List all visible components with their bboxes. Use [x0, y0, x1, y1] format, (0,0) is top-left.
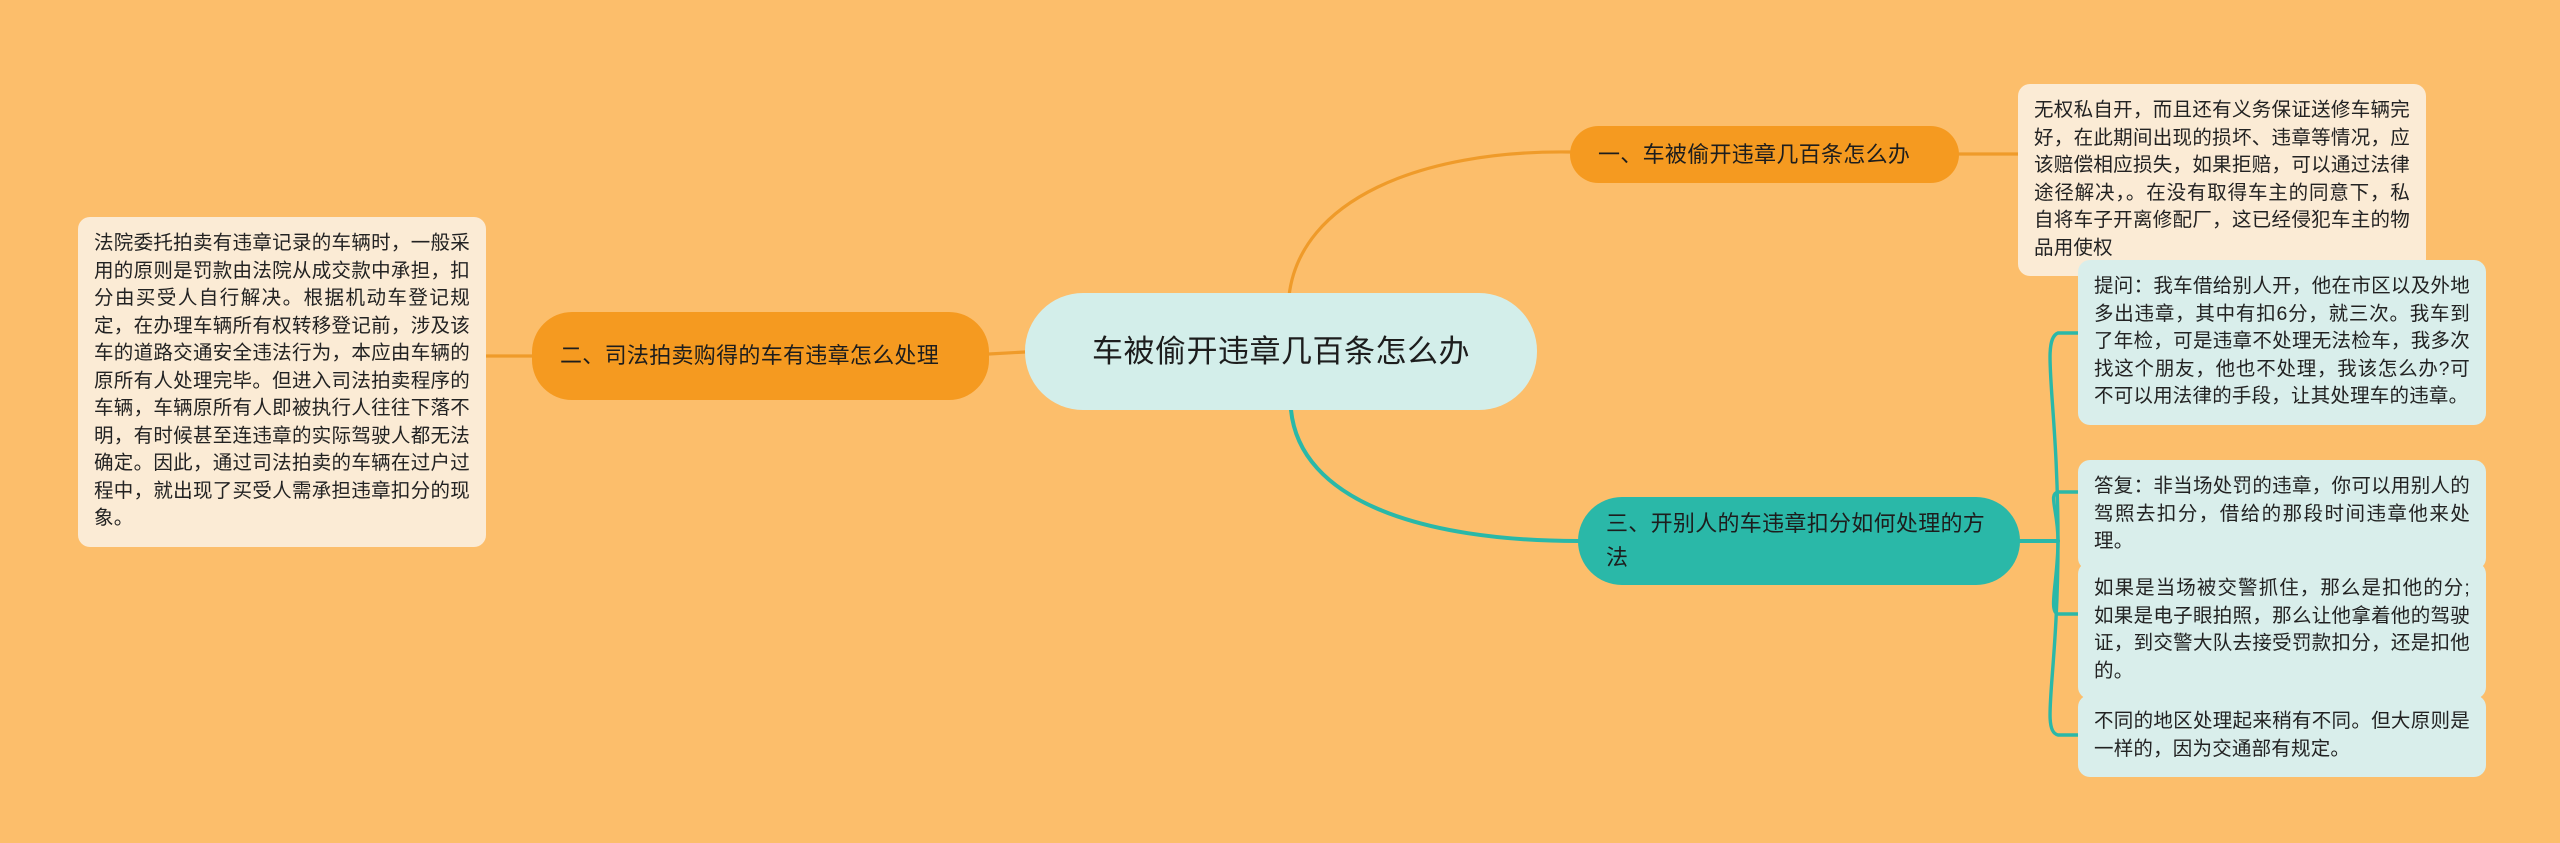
note-branch-2-1[interactable]: 法院委托拍卖有违章记录的车辆时，一般采用的原则是罚款由法院从成交款中承担，扣分由…: [78, 217, 486, 547]
branch-node-2[interactable]: 二、司法拍卖购得的车有违章怎么处理: [532, 312, 989, 400]
note-branch-3-4[interactable]: 不同的地区处理起来稍有不同。但大原则是一样的，因为交通部有规定。: [2078, 695, 2486, 777]
link-branch-3-to-note-b3: [2054, 541, 2078, 614]
link-central-to-branch-3: [1291, 410, 1578, 541]
note-branch-3-3[interactable]: 如果是当场被交警抓住，那么是扣他的分;如果是电子眼拍照，那么让他拿着他的驾驶证，…: [2078, 562, 2486, 699]
note-branch-2-1-text: 法院委托拍卖有违章记录的车辆时，一般采用的原则是罚款由法院从成交款中承担，扣分由…: [94, 230, 470, 533]
branch-node-2-label: 二、司法拍卖购得的车有违章怎么处理: [560, 339, 939, 373]
note-branch-3-2-text: 答复：非当场处罚的违章，你可以用别人的驾照去扣分，借给的那段时间违章他来处理。: [2094, 473, 2470, 556]
note-branch-3-2[interactable]: 答复：非当场处罚的违章，你可以用别人的驾照去扣分，借给的那段时间违章他来处理。: [2078, 460, 2486, 570]
branch-node-1-label: 一、车被偷开违章几百条怎么办: [1598, 138, 1910, 172]
note-branch-3-1-text: 提问：我车借给别人开，他在市区以及外地多出违章，其中有扣6分，就三次。我车到了年…: [2094, 273, 2470, 411]
note-branch-3-1[interactable]: 提问：我车借给别人开，他在市区以及外地多出违章，其中有扣6分，就三次。我车到了年…: [2078, 260, 2486, 425]
link-branch-3-to-note-b2: [2054, 492, 2078, 541]
note-branch-3-4-text: 不同的地区处理起来稍有不同。但大原则是一样的，因为交通部有规定。: [2094, 708, 2470, 763]
branch-node-3[interactable]: 三、开别人的车违章扣分如何处理的方法: [1578, 497, 2020, 585]
note-branch-3-3-text: 如果是当场被交警抓住，那么是扣他的分;如果是电子眼拍照，那么让他拿着他的驾驶证，…: [2094, 575, 2470, 685]
central-topic[interactable]: 车被偷开违章几百条怎么办: [1025, 293, 1537, 410]
branch-node-3-label: 三、开别人的车违章扣分如何处理的方法: [1606, 507, 1992, 575]
note-branch-1-1[interactable]: 无权私自开，而且还有义务保证送修车辆完好，在此期间出现的损坏、违章等情况，应该赔…: [2018, 84, 2426, 276]
branch-node-1[interactable]: 一、车被偷开违章几百条怎么办: [1570, 126, 1959, 183]
link-branch-3-to-note-b4: [2050, 541, 2078, 735]
link-central-to-branch-2: [989, 352, 1025, 354]
mindmap-canvas: 车被偷开违章几百条怎么办 一、车被偷开违章几百条怎么办 无权私自开，而且还有义务…: [0, 0, 2560, 843]
note-branch-1-1-text: 无权私自开，而且还有义务保证送修车辆完好，在此期间出现的损坏、违章等情况，应该赔…: [2034, 97, 2410, 262]
link-branch-3-to-note-b1: [2050, 333, 2078, 541]
link-central-to-branch-1: [1289, 152, 1570, 296]
central-topic-label: 车被偷开违章几百条怎么办: [1092, 329, 1470, 375]
